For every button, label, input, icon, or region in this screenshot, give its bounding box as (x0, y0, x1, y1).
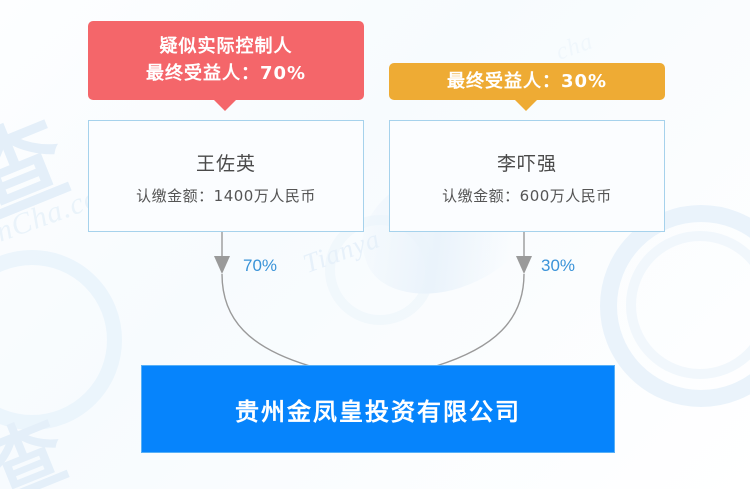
badge-orange-tail-icon (515, 100, 537, 111)
connector-curve-right (436, 274, 524, 366)
badge-red-line1: 疑似实际控制人 (88, 33, 364, 60)
suspected-actual-controller-badge: 疑似实际控制人 最终受益人：70% (88, 21, 364, 100)
company-node[interactable]: 贵州金凤皇投资有限公司 (142, 366, 614, 452)
badge-orange-line1: 最终受益人：30% (389, 69, 665, 95)
shareholder-name-left: 王佐英 (89, 149, 363, 176)
arrowhead-right (516, 256, 532, 274)
connector-curve-left (222, 274, 310, 366)
beneficiary-badge: 最终受益人：30% (389, 63, 665, 100)
badge-red-tail-icon (214, 100, 236, 111)
edge-percent-label-right: 30% (541, 256, 575, 276)
diagram-canvas: 查 查 nCha.co Tianya cha 疑似实际控制人 最终受益人：70%… (0, 0, 750, 489)
badge-red-line2: 最终受益人：70% (88, 60, 364, 87)
company-name: 贵州金凤皇投资有限公司 (235, 392, 521, 427)
edge-percent-label-left: 70% (243, 256, 277, 276)
arrowhead-left (214, 256, 230, 274)
shareholder-node-right[interactable]: 李吓强 认缴金额：600万人民币 (389, 120, 665, 232)
shareholder-name-right: 李吓强 (390, 149, 664, 176)
shareholder-capital-left: 认缴金额：1400万人民币 (89, 185, 363, 206)
shareholder-node-left[interactable]: 王佐英 认缴金额：1400万人民币 (88, 120, 364, 232)
shareholder-capital-right: 认缴金额：600万人民币 (390, 185, 664, 206)
